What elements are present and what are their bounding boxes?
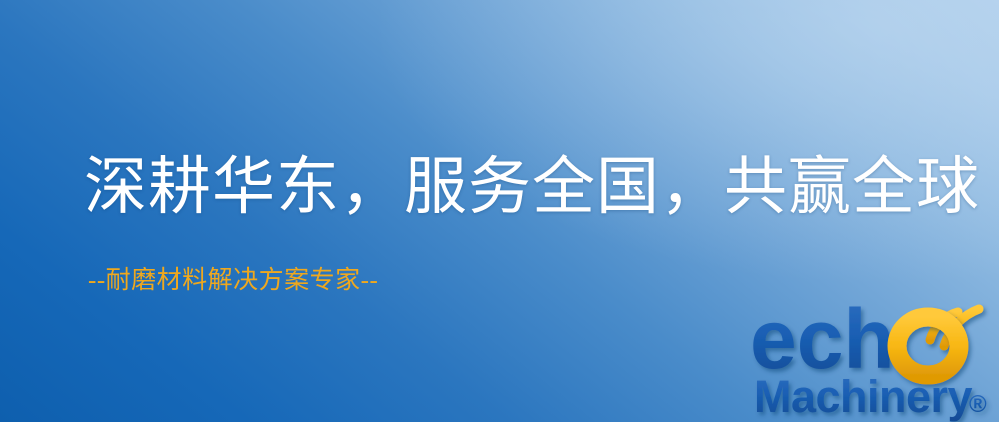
logo-trademark-symbol: ®	[969, 391, 987, 418]
logo-brand-secondary: Machinery	[754, 371, 973, 422]
logo-brand-accent-o	[897, 317, 959, 375]
banner-headline: 深耕华东，服务全国，共赢全球	[84, 152, 980, 223]
echo-machinery-logo[interactable]: ech Machinery ®	[752, 296, 999, 422]
banner-subtitle: --耐磨材料解决方案专家--	[88, 266, 378, 296]
hero-banner: 深耕华东，服务全国，共赢全球 --耐磨材料解决方案专家--	[0, 0, 999, 422]
